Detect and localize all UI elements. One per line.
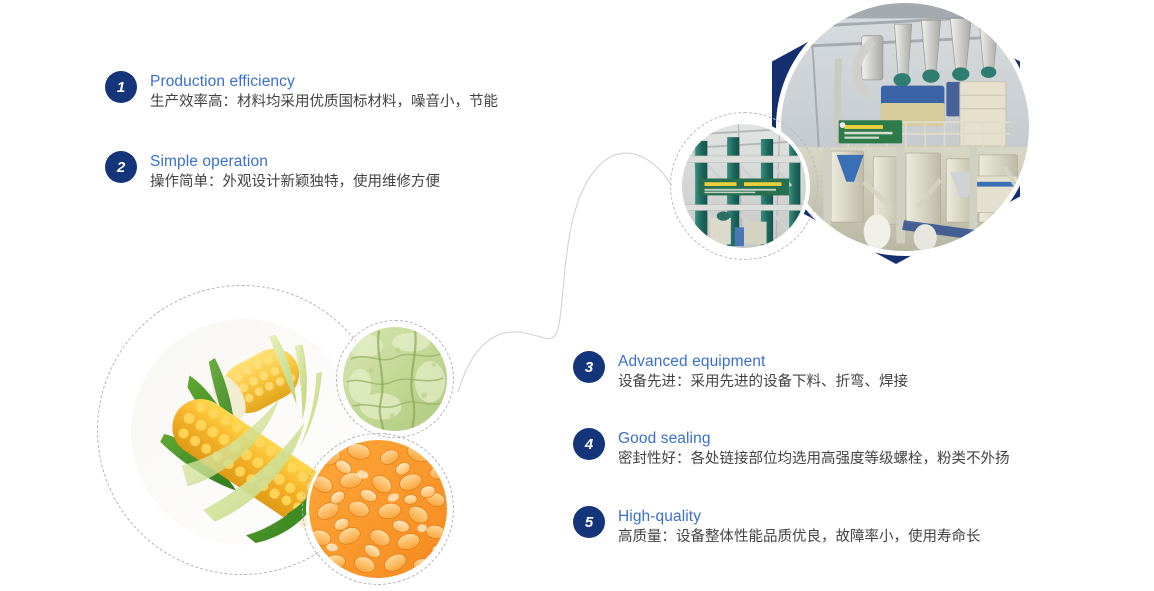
feature-item-4[interactable]: 4 Good sealing 密封性好：各处链接部位均选用高强度等级螺栓，粉类不… [573, 428, 1010, 470]
feature-desc-2: 操作简单：外观设计新颖独特，使用维修方便 [150, 172, 440, 193]
factory-secondary-photo [678, 120, 810, 252]
feature-desc-4: 密封性好：各处链接部位均选用高强度等级螺栓，粉类不外扬 [618, 449, 1010, 470]
feature-title-3: Advanced equipment [618, 352, 908, 371]
feature-badge-3: 3 [573, 351, 605, 383]
feature-text-3: Advanced equipment 设备先进：采用先进的设备下料、折弯、焊接 [618, 351, 908, 393]
feature-text-2: Simple operation 操作简单：外观设计新颖独特，使用维修方便 [150, 151, 440, 193]
feature-item-1[interactable]: 1 Production efficiency 生产效率高：材料均采用优质国标材… [105, 71, 498, 113]
feature-badge-2: 2 [105, 151, 137, 183]
feature-desc-5: 高质量：设备整体性能品质优良，故障率小，使用寿命长 [618, 527, 981, 548]
feature-text-1: Production efficiency 生产效率高：材料均采用优质国标材料，… [150, 71, 498, 113]
feature-title-1: Production efficiency [150, 72, 498, 91]
feature-desc-3: 设备先进：采用先进的设备下料、折弯、焊接 [618, 372, 908, 393]
feature-title-2: Simple operation [150, 152, 440, 171]
feature-desc-1: 生产效率高：材料均采用优质国标材料，噪音小，节能 [150, 92, 498, 113]
feature-badge-1: 1 [105, 71, 137, 103]
feature-text-4: Good sealing 密封性好：各处链接部位均选用高强度等级螺栓，粉类不外扬 [618, 428, 1010, 470]
feature-item-2[interactable]: 2 Simple operation 操作简单：外观设计新颖独特，使用维修方便 [105, 151, 440, 193]
feature-item-3[interactable]: 3 Advanced equipment 设备先进：采用先进的设备下料、折弯、焊… [573, 351, 908, 393]
factory-image-group [660, 0, 1080, 284]
corn-kernels-photo [306, 437, 450, 581]
feature-badge-4: 4 [573, 428, 605, 460]
feature-highlights-page: 1 Production efficiency 生产效率高：材料均采用优质国标材… [0, 0, 1154, 591]
feature-item-5[interactable]: 5 High-quality 高质量：设备整体性能品质优良，故障率小，使用寿命长 [573, 506, 981, 548]
factory-main-photo [776, 0, 1034, 256]
feature-title-4: Good sealing [618, 429, 1010, 448]
feature-badge-5: 5 [573, 506, 605, 538]
feature-title-5: High-quality [618, 507, 981, 526]
corn-image-group [90, 282, 480, 591]
feature-text-5: High-quality 高质量：设备整体性能品质优良，故障率小，使用寿命长 [618, 506, 981, 548]
corn-paste-photo [340, 324, 450, 434]
